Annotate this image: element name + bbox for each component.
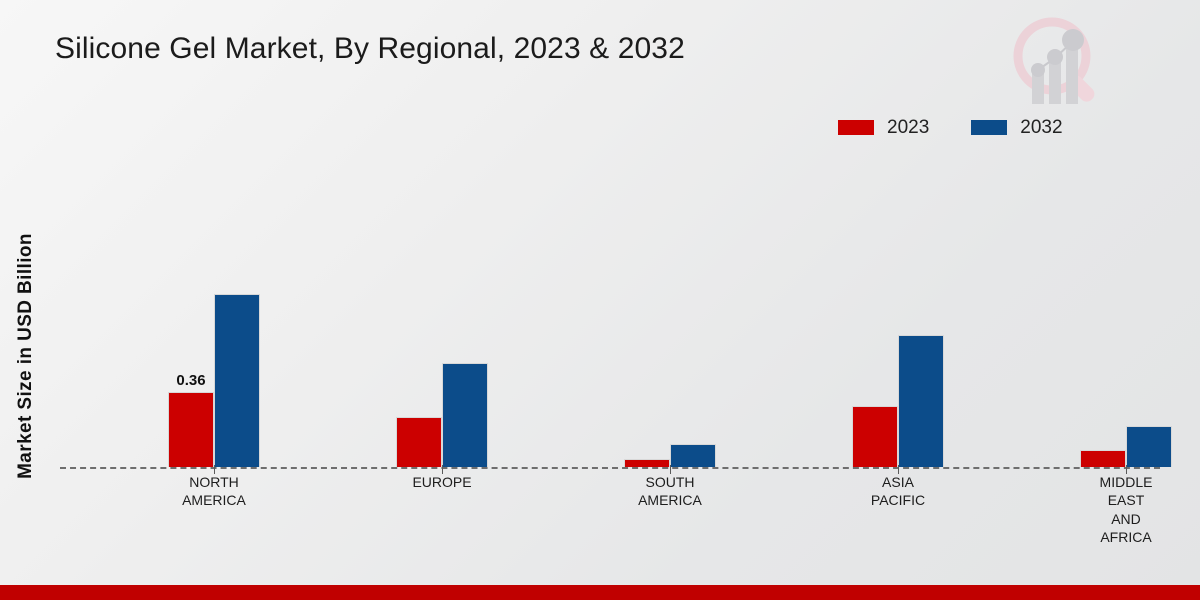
bar-data-label: 0.36	[162, 372, 220, 389]
bar-group: SOUTH AMERICA	[624, 149, 716, 467]
legend-swatch-2023	[838, 120, 874, 135]
bar-2032[interactable]	[670, 444, 716, 467]
bar-group: MIDDLE EAST AND AFRICA	[1080, 149, 1172, 467]
legend-label-2023: 2023	[887, 118, 929, 137]
footer-accent-strip	[0, 585, 1200, 600]
bar-group: NORTH AMERICA	[168, 149, 260, 467]
bar-2023[interactable]	[624, 459, 670, 467]
bar-pair	[396, 363, 488, 467]
bar-group: EUROPE	[396, 149, 488, 467]
legend-item-2032[interactable]: 2032	[971, 118, 1062, 137]
bar-pair	[1080, 426, 1172, 467]
legend-item-2023[interactable]: 2023	[838, 118, 929, 137]
bar-group: ASIA PACIFIC	[852, 149, 944, 467]
legend-label-2032: 2032	[1020, 118, 1062, 137]
bar-2023[interactable]	[852, 406, 898, 467]
watermark-logo	[1002, 8, 1122, 113]
bar-2032[interactable]	[898, 335, 944, 467]
chart-legend: 2023 2032	[838, 118, 1063, 137]
y-axis-title: Market Size in USD Billion	[15, 191, 37, 521]
bar-2032[interactable]	[442, 363, 488, 467]
bar-2032[interactable]	[1126, 426, 1172, 467]
bar-2023[interactable]	[1080, 450, 1126, 467]
page-title: Silicone Gel Market, By Regional, 2023 &…	[55, 32, 685, 66]
bar-2023[interactable]	[396, 417, 442, 467]
bar-pair	[852, 335, 944, 467]
bar-pair	[624, 444, 716, 467]
x-axis-baseline	[60, 467, 1160, 469]
bar-2032[interactable]	[214, 294, 260, 467]
chart-plot-area: NORTH AMERICAEUROPESOUTH AMERICAASIA PAC…	[60, 150, 1160, 468]
x-axis-category-label: EUROPE	[362, 473, 522, 491]
x-axis-category-label: MIDDLE EAST AND AFRICA	[1046, 473, 1200, 547]
x-axis-category-label: ASIA PACIFIC	[818, 473, 978, 510]
x-axis-category-label: NORTH AMERICA	[134, 473, 294, 510]
legend-swatch-2032	[971, 120, 1007, 135]
x-axis-category-label: SOUTH AMERICA	[590, 473, 750, 510]
bar-2023[interactable]	[168, 392, 214, 467]
